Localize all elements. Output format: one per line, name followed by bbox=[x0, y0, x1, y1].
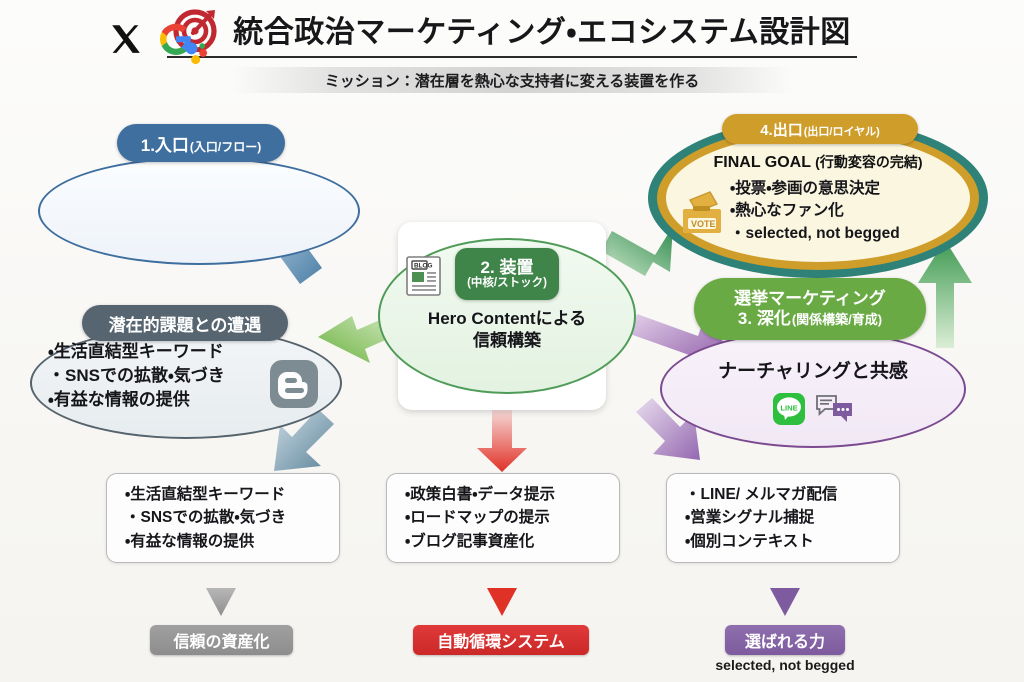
nurture-badge: 選挙マーケティング 3. 深化(関係構築/育成) bbox=[694, 278, 926, 340]
list-item: ・ロードマップの提示 bbox=[405, 506, 555, 529]
svg-text:LINE: LINE bbox=[780, 403, 797, 412]
nurture-ellipse bbox=[660, 330, 966, 448]
footer-badge-trust: 信頼の資産化 bbox=[150, 625, 293, 655]
nurture-body: ナーチャリングと共感 bbox=[660, 356, 966, 383]
list-item: ・政策白書・データ提示 bbox=[405, 483, 555, 506]
list-item: ・SNSでの拡散・気づき bbox=[125, 506, 286, 529]
list-item: ・個別コンテキスト bbox=[685, 530, 837, 553]
detail-bullet-list: ・生活直結型キーワード ・SNSでの拡散・気づき ・有益な情報の提供 bbox=[107, 483, 286, 553]
nurture-icon-row: LINE bbox=[660, 392, 966, 426]
footer-badge-auto-cycle: 自動循環システム bbox=[413, 625, 589, 655]
line-icon: LINE bbox=[772, 392, 806, 426]
list-item: ・有益な情報の提供 bbox=[125, 530, 286, 553]
footer-caption: selected, not begged bbox=[660, 657, 910, 673]
nurture-node-group: 選挙マーケティング 3. 深化(関係構築/育成) ナーチャリングと共感 LINE bbox=[0, 0, 1024, 682]
detail-bullet-list: ・LINE/ メルマガ配信 ・営業シグナル捕捉 ・個別コンテキスト bbox=[667, 483, 837, 553]
diagram-canvas: 統合政治マーケティング・エコシステム設計図 ミッション：潜在層を熱心な支持者に変… bbox=[0, 0, 1024, 682]
list-item: ・ブログ記事資産化 bbox=[405, 530, 555, 553]
detail-bullet-list: ・政策白書・データ提示 ・ロードマップの提示 ・ブログ記事資産化 bbox=[387, 483, 555, 553]
list-item: ・生活直結型キーワード bbox=[125, 483, 286, 506]
detail-box-device: ・政策白書・データ提示 ・ロードマップの提示 ・ブログ記事資産化 bbox=[386, 473, 620, 563]
chat-bubble-icon bbox=[816, 394, 854, 424]
nurture-badge-main: 選挙マーケティング bbox=[734, 289, 886, 309]
nurture-badge-paren: (関係構築/育成) bbox=[792, 312, 882, 328]
detail-box-entry: ・生活直結型キーワード ・SNSでの拡散・気づき ・有益な情報の提供 bbox=[106, 473, 340, 563]
detail-box-nurture: ・LINE/ メルマガ配信 ・営業シグナル捕捉 ・個別コンテキスト bbox=[666, 473, 900, 563]
footer-badge-chosen: 選ばれる力 bbox=[725, 625, 845, 655]
list-item: ・LINE/ メルマガ配信 bbox=[685, 483, 837, 506]
list-item: ・営業シグナル捕捉 bbox=[685, 506, 837, 529]
nurture-badge-number: 3. 深化 bbox=[738, 309, 791, 329]
